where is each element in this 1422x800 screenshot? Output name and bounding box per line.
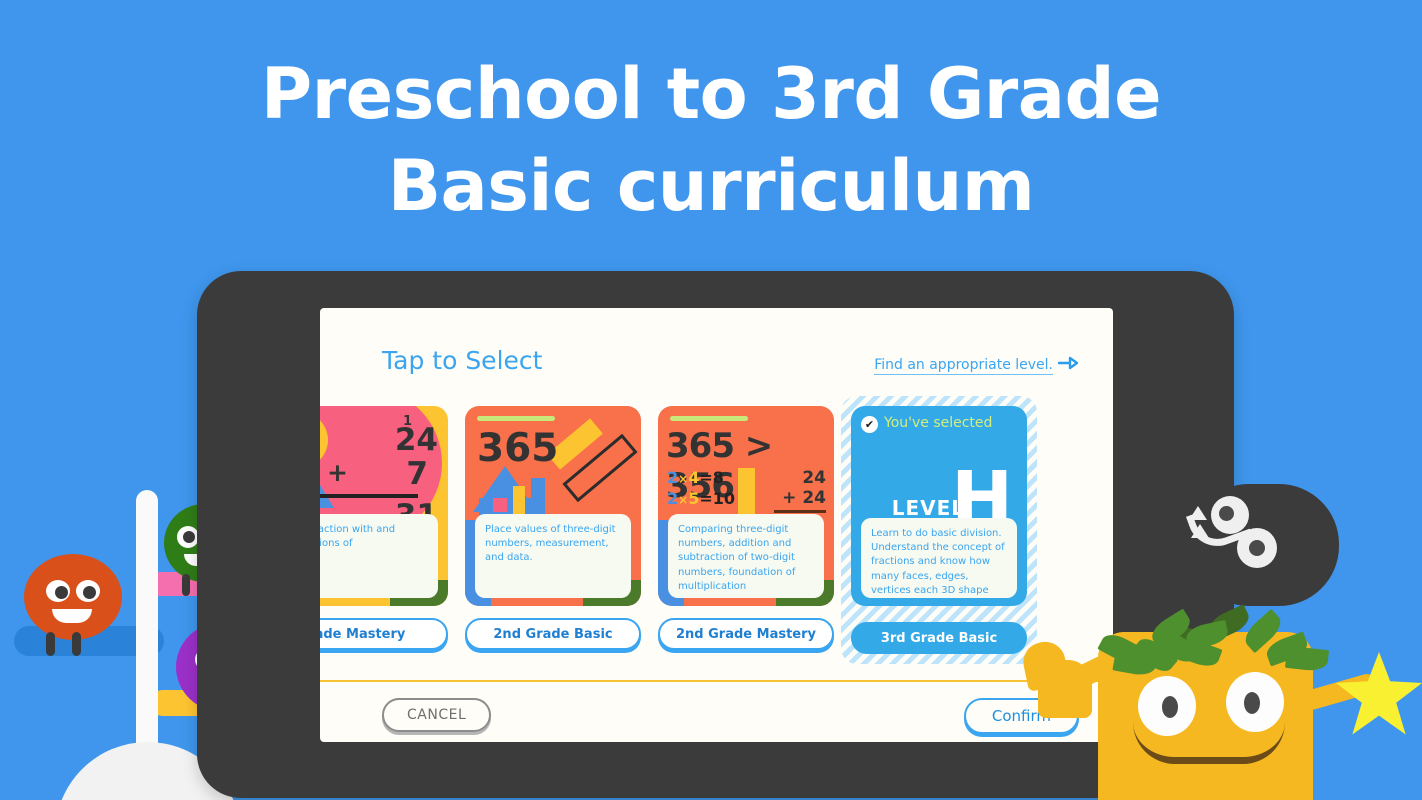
white-pole-decoration [136, 490, 158, 760]
dark-mascot [1189, 484, 1339, 606]
level-card-3-description: Comparing three-digit numbers, addition … [668, 514, 824, 598]
level-card-3[interactable]: 365 > 356 2×4=8 2×5=10 24 + 24 C [658, 406, 834, 606]
headline-line-2: Basic curriculum [0, 140, 1422, 232]
level-card-4-description: Learn to do basic division. Understand t… [861, 518, 1017, 598]
footer-divider [320, 680, 1113, 682]
level-card-2-description: Place values of three-digit numbers, mea… [475, 514, 631, 598]
orange-mascot [24, 554, 122, 640]
level-card-1-description: subtraction with and partitions of [320, 514, 438, 598]
level-card-1[interactable]: 1 24 + 7 31 subtraction with and partiti… [320, 406, 448, 606]
yellow-mascot-left-hand [1038, 660, 1092, 718]
find-appropriate-level-link[interactable]: Find an appropriate level. [874, 354, 1079, 377]
tablet-screen: Tap to Select Find an appropriate level. [320, 308, 1113, 742]
arrow-right-icon [1057, 354, 1079, 377]
tablet-device: Tap to Select Find an appropriate level. [197, 271, 1234, 798]
headline-line-1: Preschool to 3rd Grade [261, 53, 1161, 135]
screen-header: Tap to Select Find an appropriate level. [382, 346, 1083, 386]
level-card-2-grade-button[interactable]: 2nd Grade Basic [465, 618, 641, 650]
find-link-label: Find an appropriate level. [874, 357, 1053, 375]
page-title: Preschool to 3rd Grade Basic curriculum [0, 48, 1422, 233]
cancel-button[interactable]: CANCEL [382, 698, 491, 732]
screen-title: Tap to Select [382, 346, 542, 375]
level-card-2[interactable]: 365 Place values of three-digit numbers,… [465, 406, 641, 606]
level-card-4-grade-button[interactable]: 3rd Grade Basic [851, 622, 1027, 654]
screen-footer: CANCEL Confirm [320, 690, 1113, 740]
level-card-1-grade-button[interactable]: ade Mastery [320, 618, 448, 650]
level-card-list: 1 24 + 7 31 subtraction with and partiti… [320, 406, 1113, 656]
level-card-3-grade-button[interactable]: 2nd Grade Mastery [658, 618, 834, 650]
check-icon: ✔ [861, 416, 878, 433]
selected-badge-label: You've selected [884, 415, 992, 431]
